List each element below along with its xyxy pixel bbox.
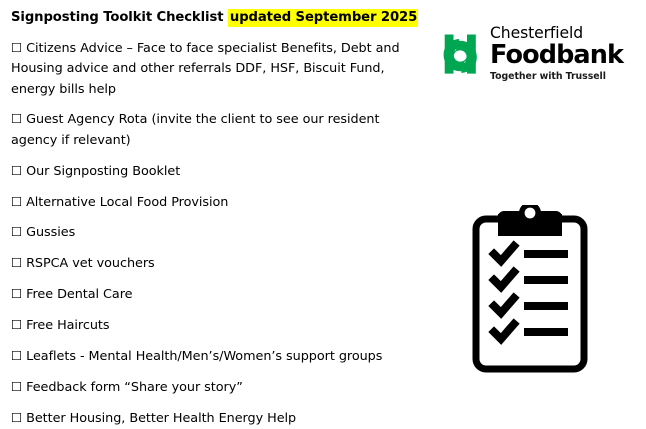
checklist-item[interactable]: ☐ RSPCA vet vouchers	[11, 253, 419, 274]
checklist-item-label: RSPCA vet vouchers	[26, 256, 155, 271]
checklist: ☐ Citizens Advice – Face to face special…	[11, 38, 419, 429]
checkbox-icon[interactable]: ☐	[11, 410, 22, 425]
checklist-item[interactable]: ☐ Free Dental Care	[11, 284, 419, 305]
checkbox-icon[interactable]: ☐	[11, 163, 22, 178]
clipboard-checklist-icon	[468, 205, 592, 377]
checkbox-icon[interactable]: ☐	[11, 111, 22, 126]
checkbox-icon[interactable]: ☐	[11, 224, 22, 239]
checkbox-icon[interactable]: ☐	[11, 317, 22, 332]
checklist-item[interactable]: ☐ Alternative Local Food Provision	[11, 192, 419, 213]
foodbank-wordmark: Chesterfield Foodbank Together with Trus…	[490, 24, 628, 83]
document-page: Signposting Toolkit Checklist updated Se…	[0, 0, 646, 425]
checkbox-icon[interactable]: ☐	[11, 40, 22, 55]
checklist-item[interactable]: ☐ Better Housing, Better Health Energy H…	[11, 408, 419, 429]
logo-line-foodbank: Foodbank	[490, 42, 628, 69]
checklist-item[interactable]: ☐ Gussies	[11, 222, 419, 243]
checklist-item[interactable]: ☐ Leaflets - Mental Health/Men’s/Women’s…	[11, 346, 419, 367]
checklist-item-label: Better Housing, Better Health Energy Hel…	[26, 411, 296, 426]
checklist-item-label: Free Haircuts	[26, 318, 109, 333]
checklist-item[interactable]: ☐ Citizens Advice – Face to face special…	[11, 38, 419, 100]
checkbox-icon[interactable]: ☐	[11, 286, 22, 301]
checklist-item[interactable]: ☐ Free Haircuts	[11, 315, 419, 336]
checklist-item-label: Our Signposting Booklet	[26, 164, 180, 179]
logo-tagline: Together with Trussell	[490, 71, 628, 83]
checklist-item[interactable]: ☐ Feedback form “Share your story”	[11, 377, 419, 398]
page-title-highlight: updated September 2025	[228, 9, 418, 27]
checkbox-icon[interactable]: ☐	[11, 194, 22, 209]
page-title: Signposting Toolkit Checklist updated Se…	[11, 9, 431, 26]
checklist-item-label: Feedback form “Share your story”	[26, 380, 243, 395]
checkbox-icon[interactable]: ☐	[11, 348, 22, 363]
chesterfield-foodbank-logo: Chesterfield Foodbank Together with Trus…	[432, 24, 628, 94]
checklist-item-label: Citizens Advice – Face to face specialis…	[11, 41, 400, 97]
checklist-item[interactable]: ☐ Our Signposting Booklet	[11, 161, 419, 182]
page-title-plain: Signposting Toolkit Checklist	[11, 10, 228, 25]
checklist-item-label: Leaflets - Mental Health/Men’s/Women’s s…	[26, 349, 382, 364]
checklist-item-label: Gussies	[26, 225, 75, 240]
checklist-item-label: Guest Agency Rota (invite the client to …	[11, 112, 379, 147]
checkbox-icon[interactable]: ☐	[11, 255, 22, 270]
checklist-item-label: Alternative Local Food Provision	[26, 195, 228, 210]
checklist-item-label: Free Dental Care	[26, 287, 132, 302]
foodbank-logo-mark-icon	[434, 28, 486, 80]
checklist-item[interactable]: ☐ Guest Agency Rota (invite the client t…	[11, 109, 419, 151]
checkbox-icon[interactable]: ☐	[11, 379, 22, 394]
